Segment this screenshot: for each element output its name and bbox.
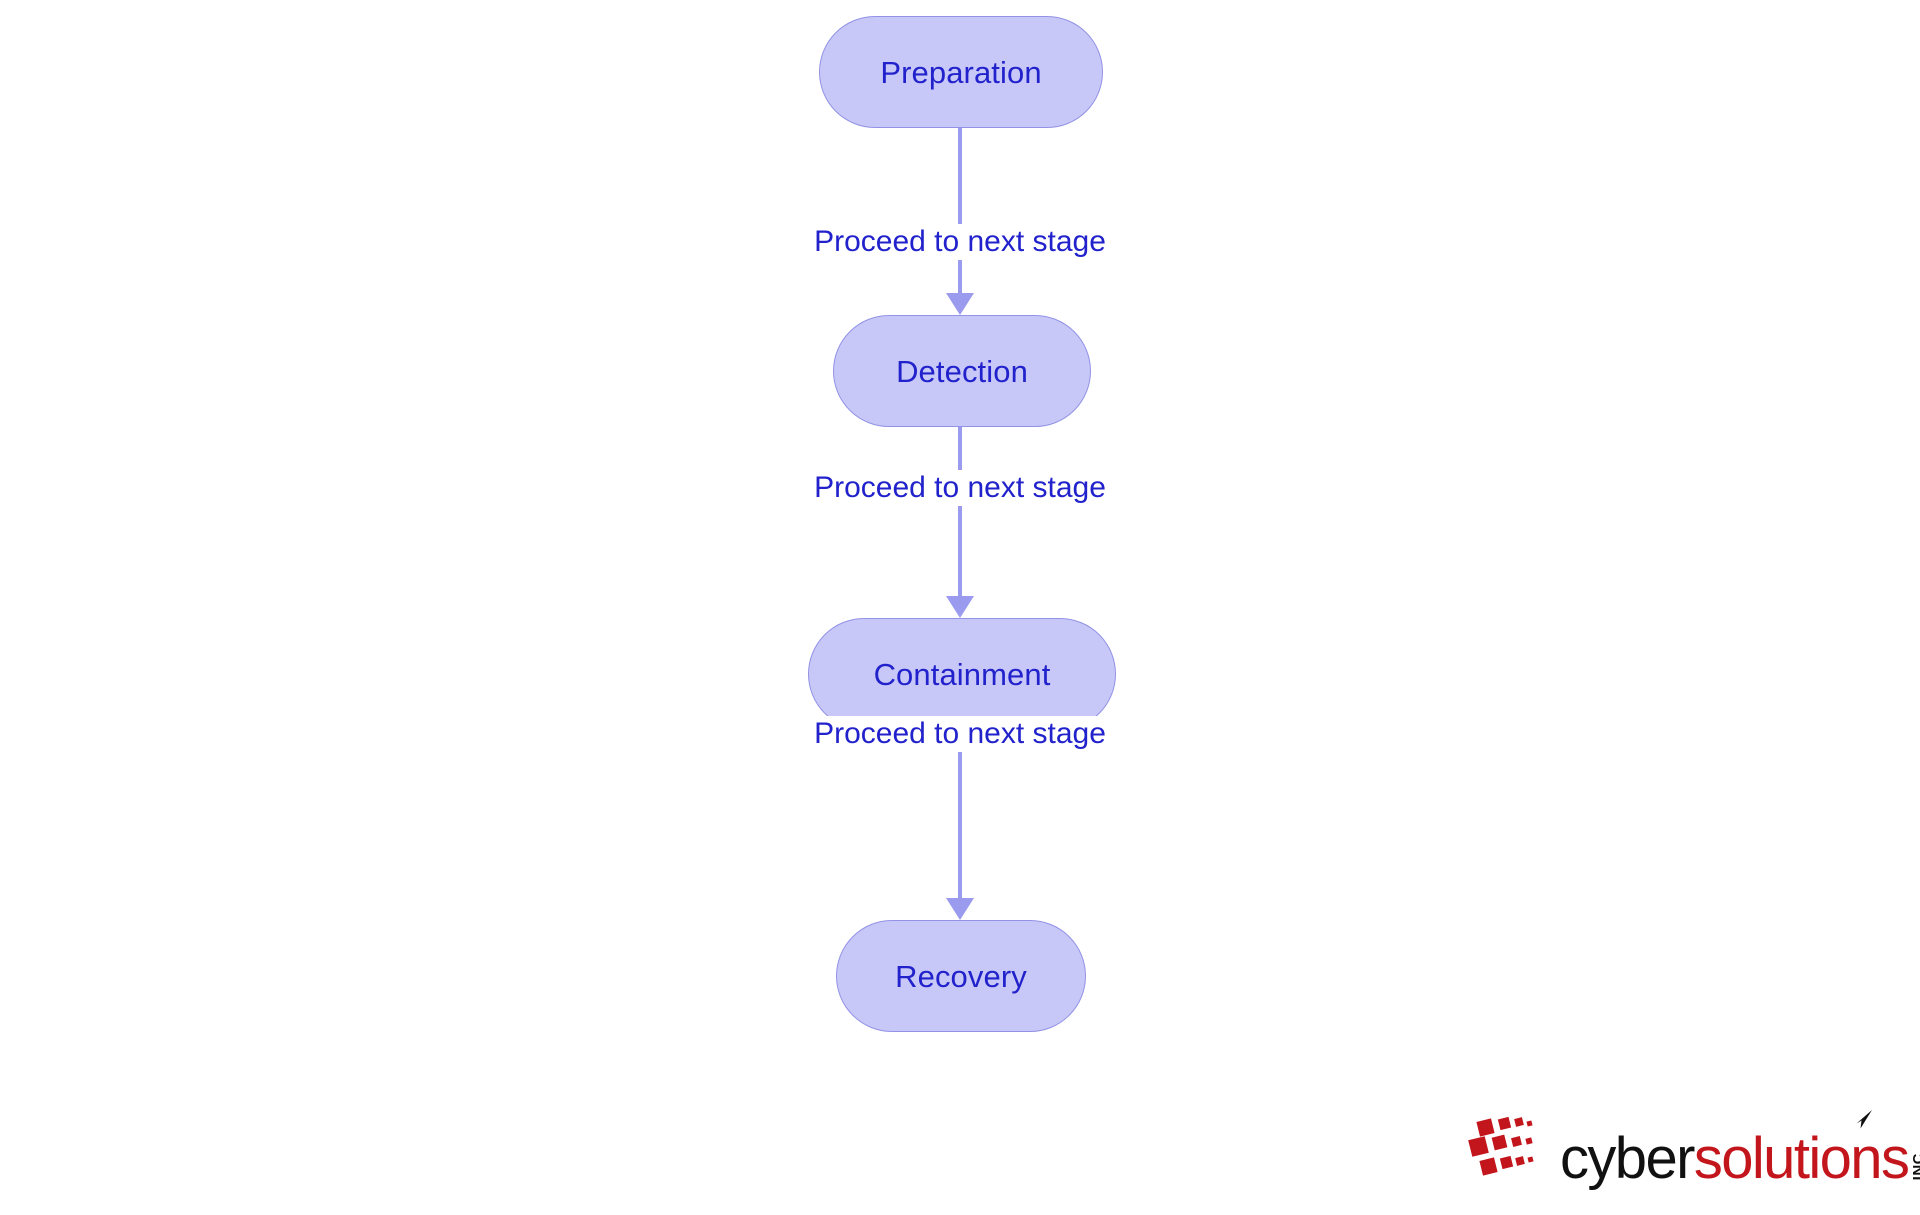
flow-node-recovery[interactable]: Recovery	[836, 920, 1086, 1032]
cybersolutions-mark-icon	[1468, 1112, 1552, 1184]
flow-node-containment[interactable]: Containment	[808, 618, 1116, 730]
flow-node-label: Recovery	[895, 961, 1027, 992]
flow-node-detection[interactable]: Detection	[833, 315, 1091, 427]
edge-arrowhead-containment-recovery	[946, 898, 974, 920]
edge-arrowhead-preparation-detection	[946, 293, 974, 315]
edge-connector-detection-containment	[958, 427, 962, 603]
flow-node-label: Preparation	[880, 57, 1041, 88]
logo-word-primary: cyber	[1560, 1134, 1694, 1184]
flow-node-label: Detection	[896, 356, 1028, 387]
cursor-arrow-icon	[1852, 1108, 1878, 1134]
edge-label-preparation-detection: Proceed to next stage	[808, 224, 1112, 260]
logo-suffix-inc: INC	[1911, 1153, 1920, 1180]
logo-word-secondary: solutions	[1694, 1134, 1909, 1184]
edge-label-detection-containment: Proceed to next stage	[808, 470, 1112, 506]
brand-logo: cyber solutions INC	[1468, 1108, 1868, 1188]
edge-label-containment-recovery: Proceed to next stage	[808, 716, 1112, 752]
edge-arrowhead-detection-containment	[946, 596, 974, 618]
flow-node-preparation[interactable]: Preparation	[819, 16, 1103, 128]
edge-connector-preparation-detection	[958, 128, 962, 302]
edge-connector-containment-recovery	[958, 730, 962, 904]
logo-wordmark: cyber solutions INC	[1560, 1112, 1920, 1184]
flow-node-label: Containment	[874, 659, 1051, 690]
flowchart-canvas: Proceed to next stage Proceed to next st…	[0, 0, 1920, 1215]
